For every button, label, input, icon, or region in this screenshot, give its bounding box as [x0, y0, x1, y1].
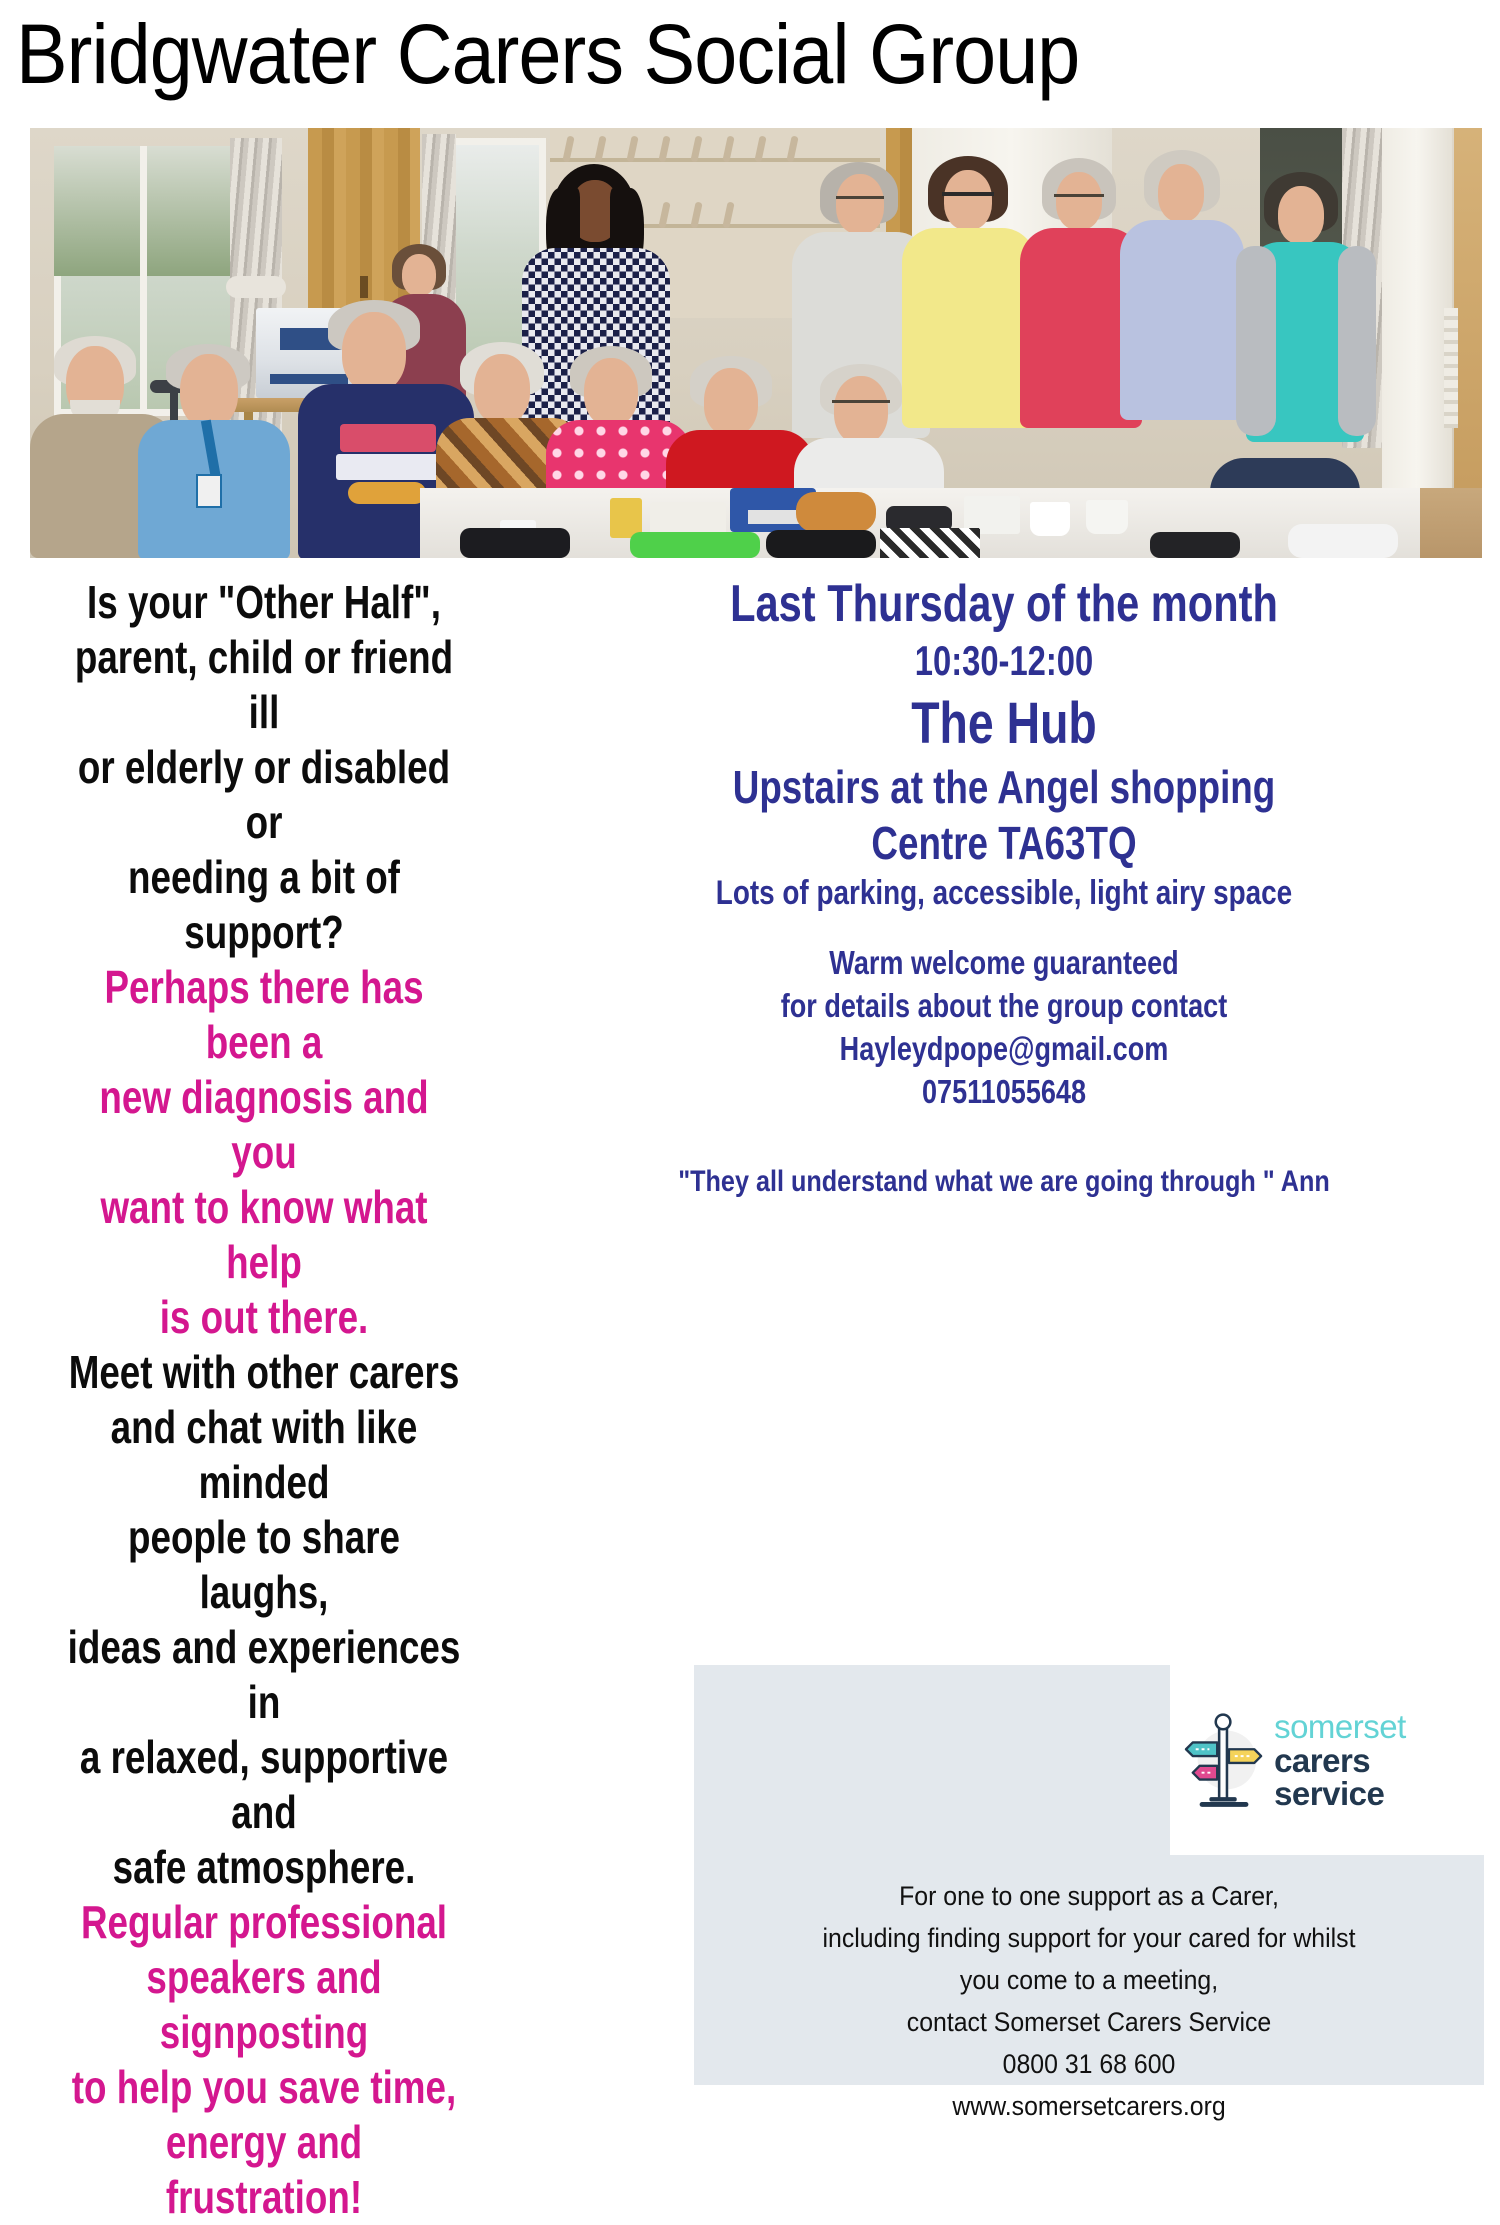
tshirt-print-top	[340, 424, 436, 452]
person-torso	[1120, 220, 1244, 420]
left-block-speakers: Regular professional speakers and signpo…	[64, 1895, 464, 2225]
person-head	[836, 174, 884, 234]
tshirt-print-mid	[336, 454, 440, 480]
person-head	[1278, 186, 1324, 244]
text-line: parent, child or friend ill	[64, 630, 464, 740]
person-head-bg	[402, 254, 436, 296]
text-line: want to know what help	[64, 1180, 464, 1290]
person-cardigan-right	[1338, 246, 1376, 436]
door-latch	[360, 276, 368, 298]
spacer	[520, 1113, 1488, 1161]
person-head	[1056, 172, 1102, 230]
text-line: energy and frustration!	[64, 2115, 464, 2225]
text-line: Meet with other carers	[64, 1345, 464, 1400]
left-block-question: Is your "Other Half", parent, child or f…	[64, 575, 464, 960]
contact-phone[interactable]: 07511055648	[607, 1070, 1401, 1113]
left-block-diagnosis: Perhaps there has been a new diagnosis a…	[64, 960, 464, 1345]
person-glasses	[832, 400, 890, 403]
group-photo	[30, 128, 1482, 558]
person-head	[1158, 164, 1204, 222]
welcome-line-1: Warm welcome guaranteed	[607, 941, 1401, 984]
person-cardigan-left	[1236, 246, 1276, 436]
lanyard-badge	[196, 474, 222, 508]
curtain-tie-left	[226, 276, 286, 298]
printer-tray	[270, 374, 348, 384]
left-block-meet: Meet with other carers and chat with lik…	[64, 1345, 464, 1895]
logo-word-carers-service: carers service	[1274, 1744, 1484, 1810]
venue-address-line-2: Centre TA63TQ	[617, 815, 1391, 871]
text-line: a relaxed, supportive and	[64, 1730, 464, 1840]
text-line: new diagnosis and you	[64, 1070, 464, 1180]
venue-name: The Hub	[617, 689, 1391, 759]
footer-support-text: For one to one support as a Carer, inclu…	[694, 1875, 1484, 2127]
poster-root: Bridgwater Carers Social Group	[0, 0, 1500, 2122]
person-head	[180, 354, 238, 428]
testimonial-quote: "They all understand what we are going t…	[597, 1161, 1410, 1203]
person-head	[834, 376, 888, 444]
spacer	[520, 915, 1488, 941]
biscuit-pile	[796, 492, 876, 532]
signpost-icon	[1184, 1708, 1264, 1812]
person-head	[704, 368, 758, 436]
mug	[1030, 502, 1070, 536]
page-title: Bridgwater Carers Social Group	[16, 6, 1368, 102]
right-text-column: Last Thursday of the month 10:30-12:00 T…	[520, 575, 1488, 1203]
checkered-bag	[880, 528, 980, 558]
radiator-far-right	[1444, 308, 1458, 428]
meeting-time: 10:30-12:00	[626, 633, 1381, 689]
floor-strip	[1420, 488, 1482, 558]
footer-line: For one to one support as a Carer,	[726, 1875, 1453, 1917]
text-line: Is your "Other Half",	[64, 575, 464, 630]
text-line: Regular professional	[64, 1895, 464, 1950]
footer-website[interactable]: www.somersetcarers.org	[726, 2085, 1453, 2127]
footer-line: you come to a meeting,	[726, 1959, 1453, 2001]
welcome-line-2: for details about the group contact	[607, 984, 1401, 1027]
window-left-view	[54, 146, 244, 276]
text-line: is out there.	[64, 1290, 464, 1345]
logo-wordmark: somerset carers service	[1274, 1710, 1484, 1810]
text-line: ideas and experiences in	[64, 1620, 464, 1730]
footer-phone[interactable]: 0800 31 68 600	[726, 2043, 1453, 2085]
text-line: needing a bit of support?	[64, 850, 464, 960]
venue-amenities: Lots of parking, accessible, light airy …	[607, 871, 1401, 915]
text-line: people to share laughs,	[64, 1510, 464, 1620]
person-glasses	[836, 196, 884, 199]
text-line: to help you save time,	[64, 2060, 464, 2115]
person-head	[584, 358, 638, 426]
footer-line: contact Somerset Carers Service	[726, 2001, 1453, 2043]
text-line: safe atmosphere.	[64, 1840, 464, 1895]
person-head	[342, 312, 406, 392]
black-bag	[460, 528, 570, 558]
text-line: or elderly or disabled or	[64, 740, 464, 850]
group-photo-canvas	[30, 128, 1482, 558]
left-text-column: Is your "Other Half", parent, child or f…	[14, 575, 514, 2225]
contact-email[interactable]: Hayleydpope@gmail.com	[607, 1027, 1401, 1070]
plate-of-biscuits	[650, 502, 726, 536]
door-far-right	[1382, 128, 1452, 508]
logo-inner: somerset carers service	[1184, 1708, 1484, 1812]
tshirt-print-bottom	[348, 482, 426, 504]
person-head	[474, 354, 530, 424]
meeting-schedule-heading: Last Thursday of the month	[617, 575, 1391, 633]
window-left-mullion	[140, 146, 147, 416]
dark-item	[1150, 532, 1240, 558]
somerset-carers-service-logo: somerset carers service	[1170, 1665, 1484, 1855]
black-handbag	[766, 530, 876, 558]
logo-word-somerset: somerset	[1274, 1710, 1484, 1743]
white-knit-item	[1288, 524, 1398, 558]
person-head	[944, 170, 992, 230]
mug	[1086, 500, 1128, 534]
person-glasses	[942, 192, 994, 196]
text-line: Perhaps there has been a	[64, 960, 464, 1070]
text-line: speakers and signposting	[64, 1950, 464, 2060]
text-line: and chat with like minded	[64, 1400, 464, 1510]
person-torso	[902, 228, 1036, 428]
venue-address-line-1: Upstairs at the Angel shopping	[617, 759, 1391, 815]
person-glasses	[1054, 194, 1104, 197]
green-bag	[630, 532, 760, 558]
footer-line: including finding support for your cared…	[726, 1917, 1453, 1959]
